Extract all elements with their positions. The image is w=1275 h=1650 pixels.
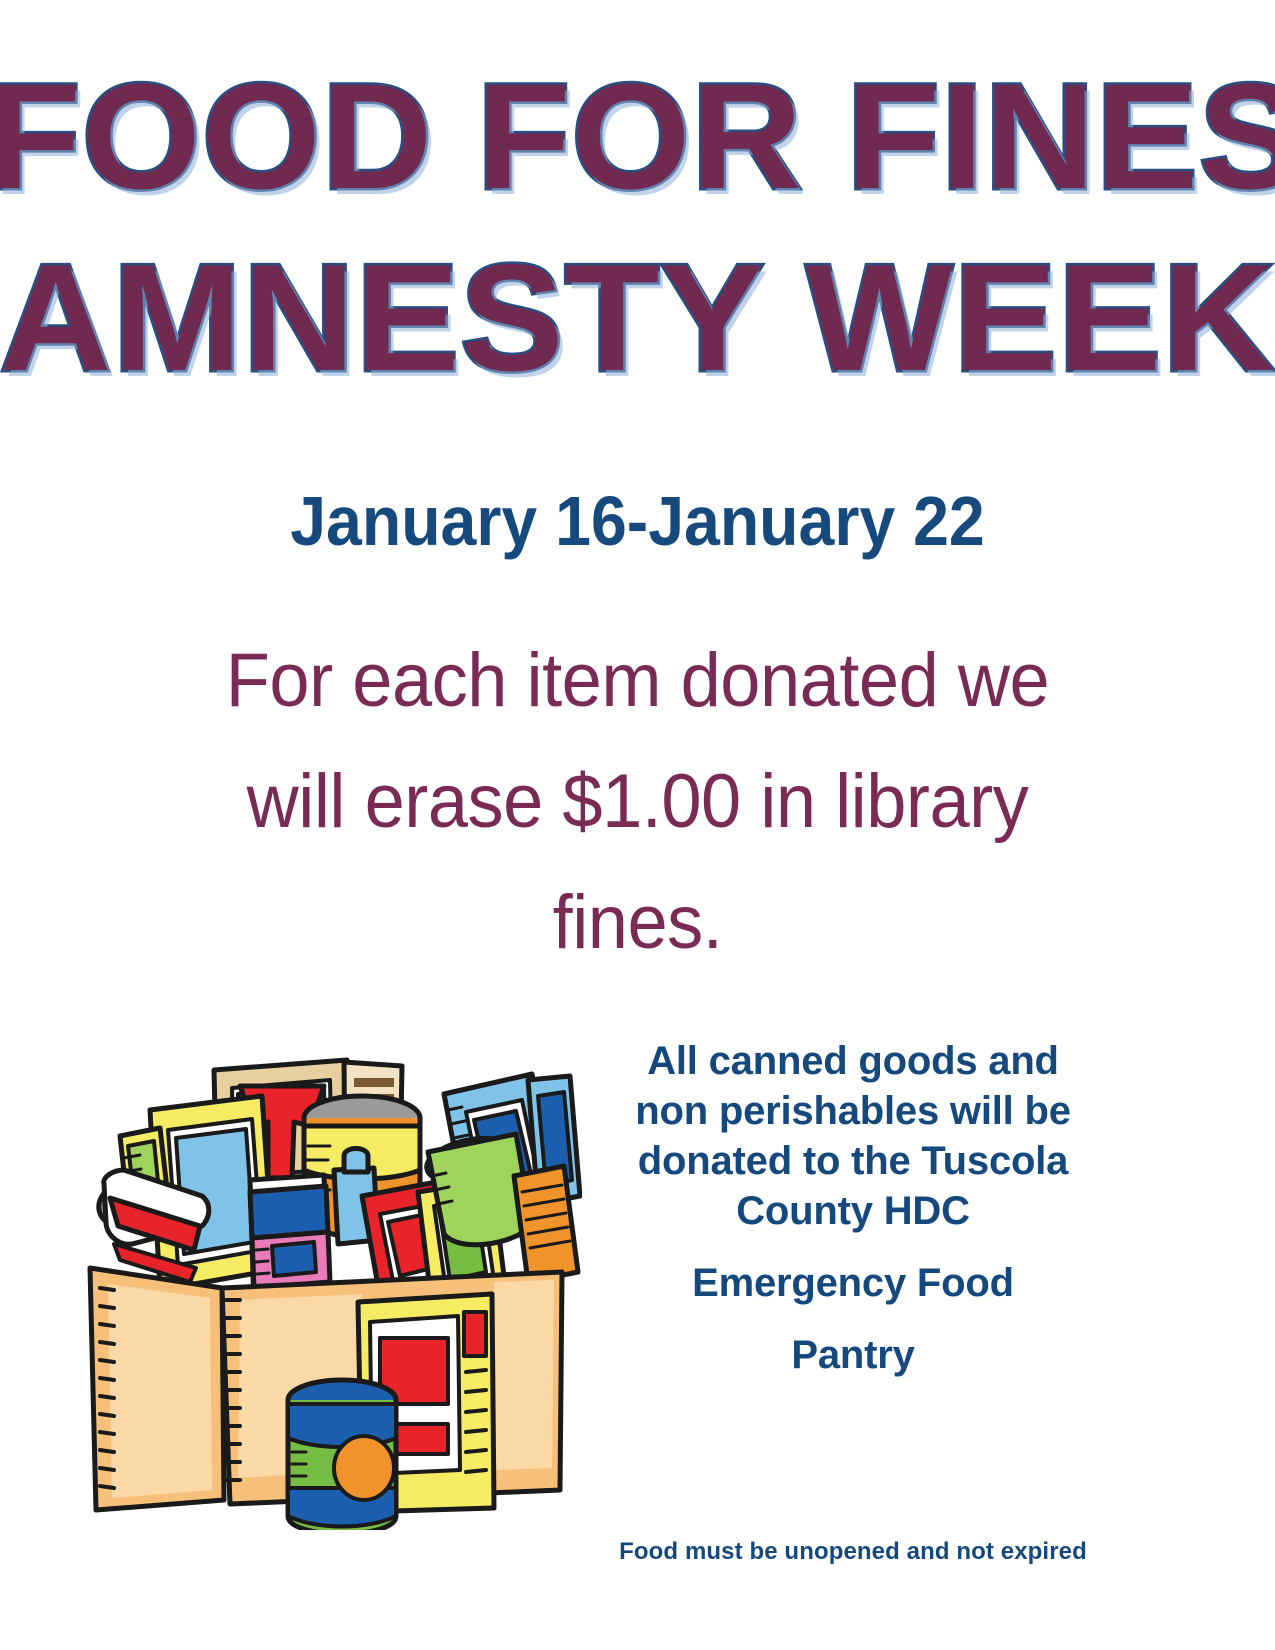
date-range-text: January 16-January 22	[51, 478, 1224, 564]
title-line-1: FOOD FOR FINES	[0, 52, 1275, 220]
poster-title: FOOD FOR FINES AMNESTY WEEK	[0, 52, 1275, 402]
flyer-poster: FOOD FOR FINES AMNESTY WEEK January 16-J…	[0, 0, 1275, 1650]
offer-line-2: will erase $1.00 in library	[89, 741, 1186, 862]
donation-note-line-4: County HDC	[573, 1186, 1133, 1236]
donation-note-line-6: Pantry	[573, 1330, 1133, 1380]
grocery-bag-icon	[62, 1000, 582, 1530]
donation-note: All canned goods and non perishables wil…	[573, 1036, 1133, 1380]
fine-print-text: Food must be unopened and not expired	[573, 1537, 1133, 1567]
offer-text: For each item donated we will erase $1.0…	[60, 620, 1215, 983]
donation-note-line-3: donated to the Tuscola	[573, 1136, 1133, 1186]
donation-note-line-5: Emergency Food	[573, 1258, 1133, 1308]
donation-note-line-1: All canned goods and	[573, 1036, 1133, 1086]
offer-line-3: fines.	[89, 862, 1186, 983]
title-line-2: AMNESTY WEEK	[0, 234, 1275, 402]
donation-note-line-2: non perishables will be	[573, 1086, 1133, 1136]
offer-line-1: For each item donated we	[89, 620, 1186, 741]
